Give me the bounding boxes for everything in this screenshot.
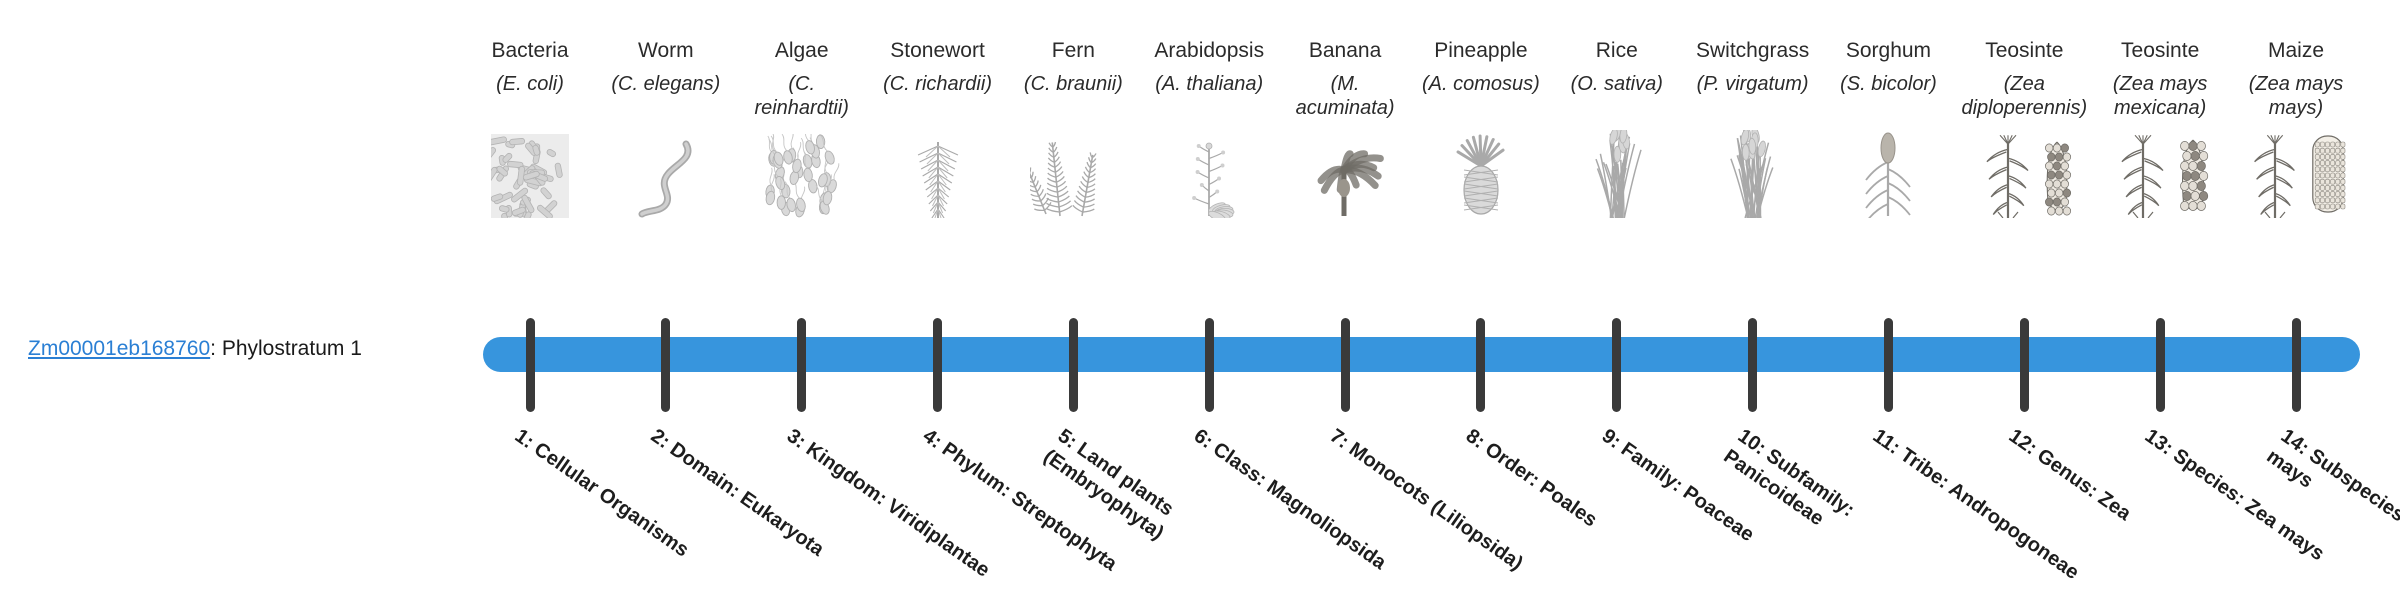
species-common-name: Switchgrass (1696, 38, 1809, 64)
species-scientific-name-text: (Zea mays mays) (2233, 72, 2359, 120)
worm-illustration (598, 126, 734, 218)
species-common-name: Sorghum (1846, 38, 1931, 64)
species-column: Switchgrass(P. virgatum) (1685, 38, 1821, 218)
species-scientific-name: (Zea mays mexicana) (2097, 72, 2223, 120)
species-column: Sorghum(S. bicolor) (1820, 38, 1956, 218)
species-scientific-name: (S. bicolor) (1825, 72, 1951, 120)
timeline-tick (797, 318, 806, 412)
species-scientific-name-text: (C. elegans) (611, 72, 720, 96)
species-scientific-name-text: (C. richardii) (883, 72, 992, 96)
fern-illustration (1005, 126, 1141, 218)
species-scientific-name-text: (P. virgatum) (1697, 72, 1809, 96)
species-scientific-name: (C. reinhardtii) (739, 72, 865, 120)
timeline-tick (1069, 318, 1078, 412)
species-scientific-name-text: (A. comosus) (1422, 72, 1540, 96)
species-column: Banana(M. acuminata) (1277, 38, 1413, 218)
species-scientific-name-text: (C. braunii) (1024, 72, 1123, 96)
timeline-tick (2020, 318, 2029, 412)
pineapple-illustration (1413, 126, 1549, 218)
species-scientific-name-text: (S. bicolor) (1840, 72, 1937, 96)
species-scientific-name-text: (Zea mays mexicana) (2097, 72, 2223, 120)
arabidopsis-illustration (1141, 126, 1277, 218)
phylostratum-figure: Zm00001eb168760: Phylostratum 1 Bacteria… (0, 0, 2400, 580)
species-common-name: Pineapple (1434, 38, 1527, 64)
species-scientific-name-text: (E. coli) (496, 72, 564, 96)
species-scientific-name: (C. braunii) (1010, 72, 1136, 120)
species-column: Teosinte(Zea diploperennis) (1956, 38, 2092, 218)
species-scientific-name: (P. virgatum) (1690, 72, 1816, 120)
timeline-tick (2292, 318, 2301, 412)
species-scientific-name: (O. sativa) (1554, 72, 1680, 120)
species-column: Stonewort(C. richardii) (870, 38, 1006, 218)
species-scientific-name-text: (O. sativa) (1571, 72, 1663, 96)
timeline-tick (526, 318, 535, 412)
banana-illustration (1277, 126, 1413, 218)
species-common-name: Algae (775, 38, 829, 64)
timeline-tick (933, 318, 942, 412)
species-common-name: Maize (2268, 38, 2324, 64)
sorghum-illustration (1820, 126, 1956, 218)
species-column: Arabidopsis(A. thaliana) (1141, 38, 1277, 218)
species-common-name: Banana (1309, 38, 1381, 64)
timeline-tick (661, 318, 670, 412)
switchgrass-illustration (1685, 126, 1821, 218)
species-scientific-name-text: (C. reinhardtii) (739, 72, 865, 120)
species-scientific-name-text: (M. acuminata) (1282, 72, 1408, 120)
timeline-tick (1612, 318, 1621, 412)
species-scientific-name: (A. thaliana) (1146, 72, 1272, 120)
teosinte-diploperennis-illustration (1956, 126, 2092, 218)
gene-id-link[interactable]: Zm00001eb168760 (28, 337, 210, 360)
species-scientific-name: (M. acuminata) (1282, 72, 1408, 120)
phylogeny-timeline-bar (483, 337, 2360, 372)
timeline-tick (1476, 318, 1485, 412)
species-common-name: Teosinte (1985, 38, 2063, 64)
rice-illustration (1549, 126, 1685, 218)
species-column: Rice(O. sativa) (1549, 38, 1685, 218)
timeline-tick (1341, 318, 1350, 412)
species-common-name: Worm (638, 38, 694, 64)
timeline-tick (2156, 318, 2165, 412)
maize-illustration (2228, 126, 2364, 218)
species-scientific-name: (E. coli) (467, 72, 593, 120)
timeline-tick (1205, 318, 1214, 412)
species-column: Worm(C. elegans) (598, 38, 734, 218)
bacteria-illustration (462, 126, 598, 218)
species-column: Maize(Zea mays mays) (2228, 38, 2364, 218)
stonewort-illustration (870, 126, 1006, 218)
species-scientific-name: (C. elegans) (603, 72, 729, 120)
species-common-name: Stonewort (890, 38, 985, 64)
species-scientific-name: (Zea diploperennis) (1961, 72, 2087, 120)
species-common-name: Bacteria (491, 38, 568, 64)
timeline-tick (1748, 318, 1757, 412)
species-column: Teosinte(Zea mays mexicana) (2092, 38, 2228, 218)
algae-illustration (734, 126, 870, 218)
species-scientific-name: (Zea mays mays) (2233, 72, 2359, 120)
teosinte-mexicana-illustration (2092, 126, 2228, 218)
species-common-name: Teosinte (2121, 38, 2199, 64)
species-scientific-name: (C. richardii) (875, 72, 1001, 120)
species-common-name: Rice (1596, 38, 1638, 64)
gene-phylostratum-label: Zm00001eb168760: Phylostratum 1 (28, 336, 362, 361)
species-scientific-name-text: (A. thaliana) (1155, 72, 1263, 96)
species-column: Bacteria(E. coli) (462, 38, 598, 218)
gene-phylostratum-value: Phylostratum 1 (222, 337, 362, 360)
timeline-tick (1884, 318, 1893, 412)
species-scientific-name-text: (Zea diploperennis) (1961, 72, 2087, 120)
species-column: Algae(C. reinhardtii) (734, 38, 870, 218)
species-common-name: Fern (1052, 38, 1095, 64)
gene-label-separator: : (210, 337, 222, 360)
species-column: Pineapple(A. comosus) (1413, 38, 1549, 218)
species-column: Fern(C. braunii) (1005, 38, 1141, 218)
species-scientific-name: (A. comosus) (1418, 72, 1544, 120)
species-common-name: Arabidopsis (1154, 38, 1264, 64)
